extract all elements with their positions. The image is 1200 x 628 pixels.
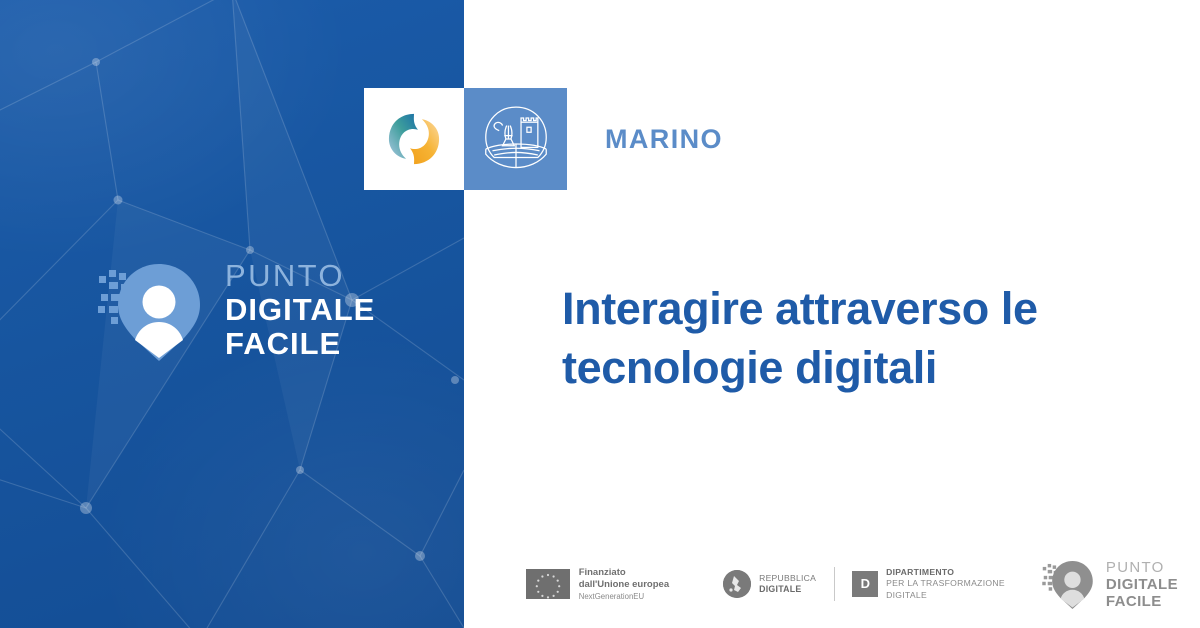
eu-line-2: dall'Unione europea <box>579 579 669 591</box>
dtd-badge-icon: D <box>852 571 878 597</box>
punto-digitale-facile-wordmark: PUNTO DIGITALE FACILE <box>225 260 375 361</box>
eu-line-1: Finanziato <box>579 567 669 579</box>
footer-logo-bar: Finanziato dall'Unione europea NextGener… <box>464 540 1200 628</box>
brand-line-digitale: DIGITALE <box>225 294 375 325</box>
municipality-name: MARINO <box>605 124 723 155</box>
dipartimento-trasformazione-digitale-logo: D DIPARTIMENTO PER LA TRASFORMAZIONE DIG… <box>852 567 1005 601</box>
italy-boot-circle-icon <box>723 570 751 598</box>
slide-canvas: PUNTO DIGITALE FACILE <box>0 0 1200 628</box>
footer-brand-line-punto: PUNTO <box>1106 560 1178 575</box>
eu-funding-logo: Finanziato dall'Unione europea NextGener… <box>526 567 669 601</box>
slide-title: Interagire attraverso le tecnologie digi… <box>562 280 1162 397</box>
italy-boot-glyph <box>723 570 751 598</box>
footer-brand-line-facile: FACILE <box>1106 594 1178 609</box>
pdf-swirl-tile <box>364 88 464 190</box>
footer-brand-line-digitale: DIGITALE <box>1106 577 1178 592</box>
eu-flag-icon <box>526 569 570 599</box>
brand-line-facile: FACILE <box>225 328 375 359</box>
eu-stars <box>526 569 570 599</box>
dtd-text: DIPARTIMENTO PER LA TRASFORMAZIONE DIGIT… <box>886 567 1005 601</box>
location-pin-person-pixel-icon <box>97 258 207 363</box>
footer-punto-digitale-facile-logo: PUNTO DIGITALE FACILE <box>1041 558 1178 610</box>
repubblica-line-2: DIGITALE <box>759 584 816 595</box>
repubblica-digitale-text: REPUBBLICA DIGITALE <box>759 573 816 594</box>
punto-digitale-facile-swirl-icon <box>381 106 447 172</box>
dtd-line-2: PER LA TRASFORMAZIONE <box>886 578 1005 589</box>
header-logo-lockup: MARINO <box>364 88 723 190</box>
marino-municipal-crest-icon <box>474 97 558 181</box>
footer-divider <box>834 567 835 601</box>
brand-line-punto: PUNTO <box>225 260 375 291</box>
location-pin-person-pixel-icon-gray <box>1041 558 1097 610</box>
punto-digitale-facile-logo: PUNTO DIGITALE FACILE <box>97 258 375 363</box>
dtd-line-3: DIGITALE <box>886 590 1005 601</box>
repubblica-line-1: REPUBBLICA <box>759 573 816 583</box>
marino-crest-tile <box>464 88 567 190</box>
eu-line-3: NextGenerationEU <box>579 592 669 602</box>
dtd-line-1: DIPARTIMENTO <box>886 567 1005 578</box>
footer-pdf-wordmark: PUNTO DIGITALE FACILE <box>1106 560 1178 609</box>
repubblica-digitale-logo: REPUBBLICA DIGITALE <box>723 570 816 598</box>
eu-funding-text: Finanziato dall'Unione europea NextGener… <box>579 567 669 601</box>
